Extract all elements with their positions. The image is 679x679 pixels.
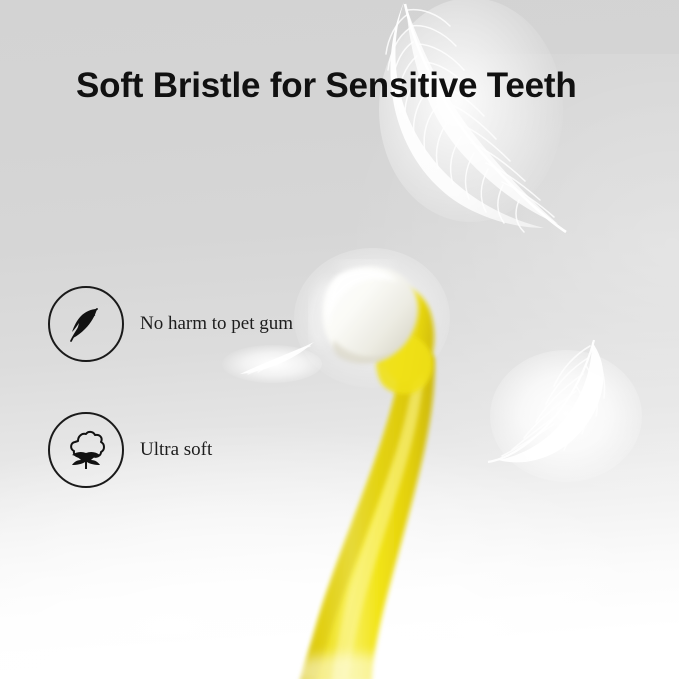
feature-no-harm-to-pet-gum: No harm to pet gum	[48, 286, 293, 362]
feature-icon-circle	[48, 412, 124, 488]
product-hero-image: Soft Bristle for Sensitive Teeth No harm…	[0, 0, 679, 679]
cotton-boll-icon	[63, 428, 109, 472]
feather-large-icon	[368, 0, 608, 244]
feature-label: No harm to pet gum	[140, 313, 293, 335]
feather-right-icon	[470, 336, 666, 506]
page-title: Soft Bristle for Sensitive Teeth	[76, 66, 577, 106]
feather-wisp-bottom-left-icon	[96, 596, 246, 658]
background-glow-right	[340, 54, 679, 529]
feature-ultra-soft: Ultra soft	[48, 412, 212, 488]
feature-icon-circle	[48, 286, 124, 362]
feather-icon	[64, 302, 108, 346]
feature-label: Ultra soft	[140, 439, 212, 461]
feather-wisp-bottom-right-icon	[402, 596, 552, 666]
